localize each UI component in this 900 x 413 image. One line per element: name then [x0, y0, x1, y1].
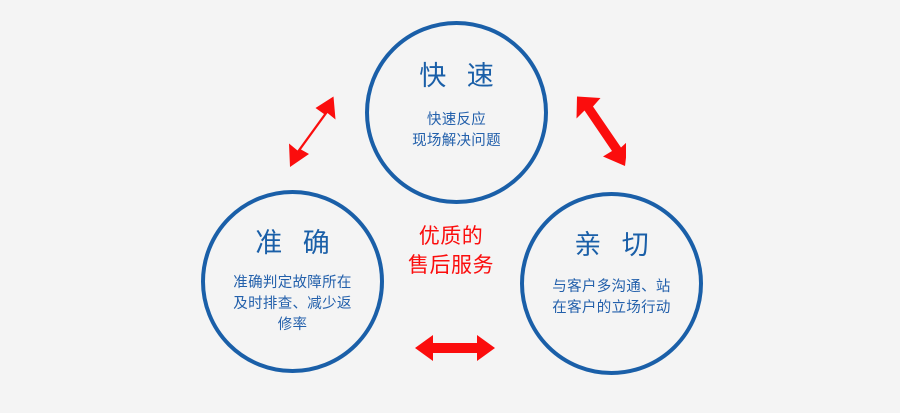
circle-node-friendly-title: 亲 切: [568, 232, 655, 259]
circle-node-friendly-body: 与客户多沟通、站 在客户的立场行动: [552, 277, 670, 319]
double-arrow-diagonal-down-right-icon: [570, 92, 626, 176]
center-caption: 优质的 售后服务: [390, 222, 512, 280]
double-arrow-diagonal-up-right-icon: [285, 92, 341, 176]
circle-node-friendly[interactable]: 亲 切 与客户多沟通、站 在客户的立场行动: [520, 192, 703, 375]
circle-node-fast[interactable]: 快 速 快速反应 现场解决问题: [365, 21, 548, 204]
circle-node-fast-title: 快 速: [413, 63, 500, 90]
diagram-canvas: 快 速 快速反应 现场解决问题 准 确 准确判定故障所在 及时排查、减少返 修率…: [0, 0, 900, 413]
double-arrow-horizontal-icon: [413, 330, 497, 370]
circle-node-accurate-body: 准确判定故障所在 及时排查、减少返 修率: [233, 273, 351, 336]
circle-node-accurate-title: 准 确: [249, 230, 336, 257]
circle-node-accurate[interactable]: 准 确 准确判定故障所在 及时排查、减少返 修率: [201, 190, 384, 373]
circle-node-fast-body: 快速反应 现场解决问题: [412, 110, 501, 152]
